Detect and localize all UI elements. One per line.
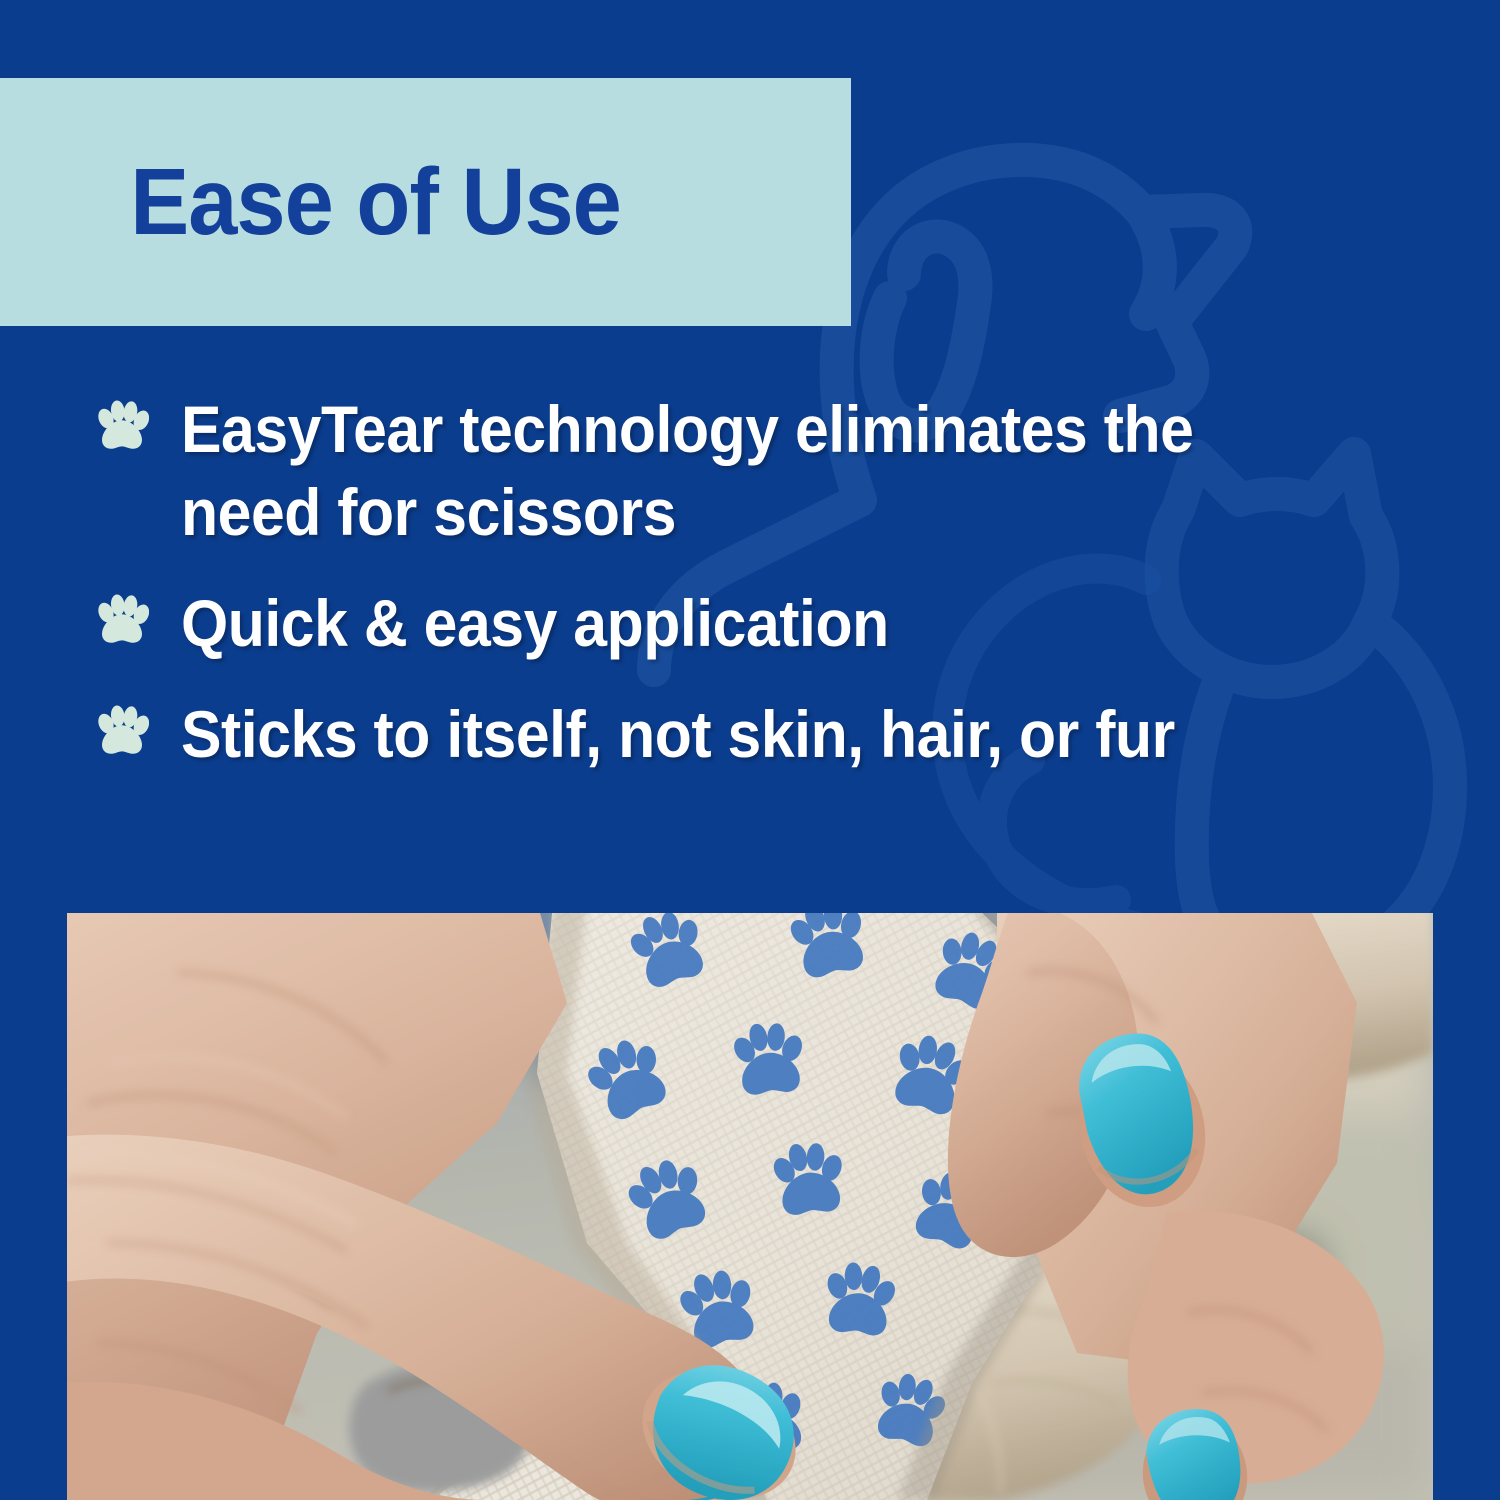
hands-tearing-paw-print-bandage-photo <box>67 913 1433 1500</box>
list-item-label: EasyTear technology eliminates the need … <box>181 388 1335 554</box>
list-item: EasyTear technology eliminates the need … <box>95 388 1435 554</box>
list-item-label: Quick & easy application <box>181 582 1335 665</box>
list-item: Sticks to itself, not skin, hair, or fur <box>95 693 1435 776</box>
paw-print-icon <box>95 705 149 759</box>
paw-print-icon <box>95 594 149 648</box>
infographic-canvas: Ease of Use EasyTear technology eliminat… <box>0 0 1500 1500</box>
paw-print-icon <box>95 400 149 454</box>
list-item: Quick & easy application <box>95 582 1435 665</box>
list-item-label: Sticks to itself, not skin, hair, or fur <box>181 693 1335 776</box>
title-band: Ease of Use <box>0 78 851 326</box>
page-title: Ease of Use <box>0 155 621 250</box>
benefits-list: EasyTear technology eliminates the need … <box>95 388 1435 777</box>
